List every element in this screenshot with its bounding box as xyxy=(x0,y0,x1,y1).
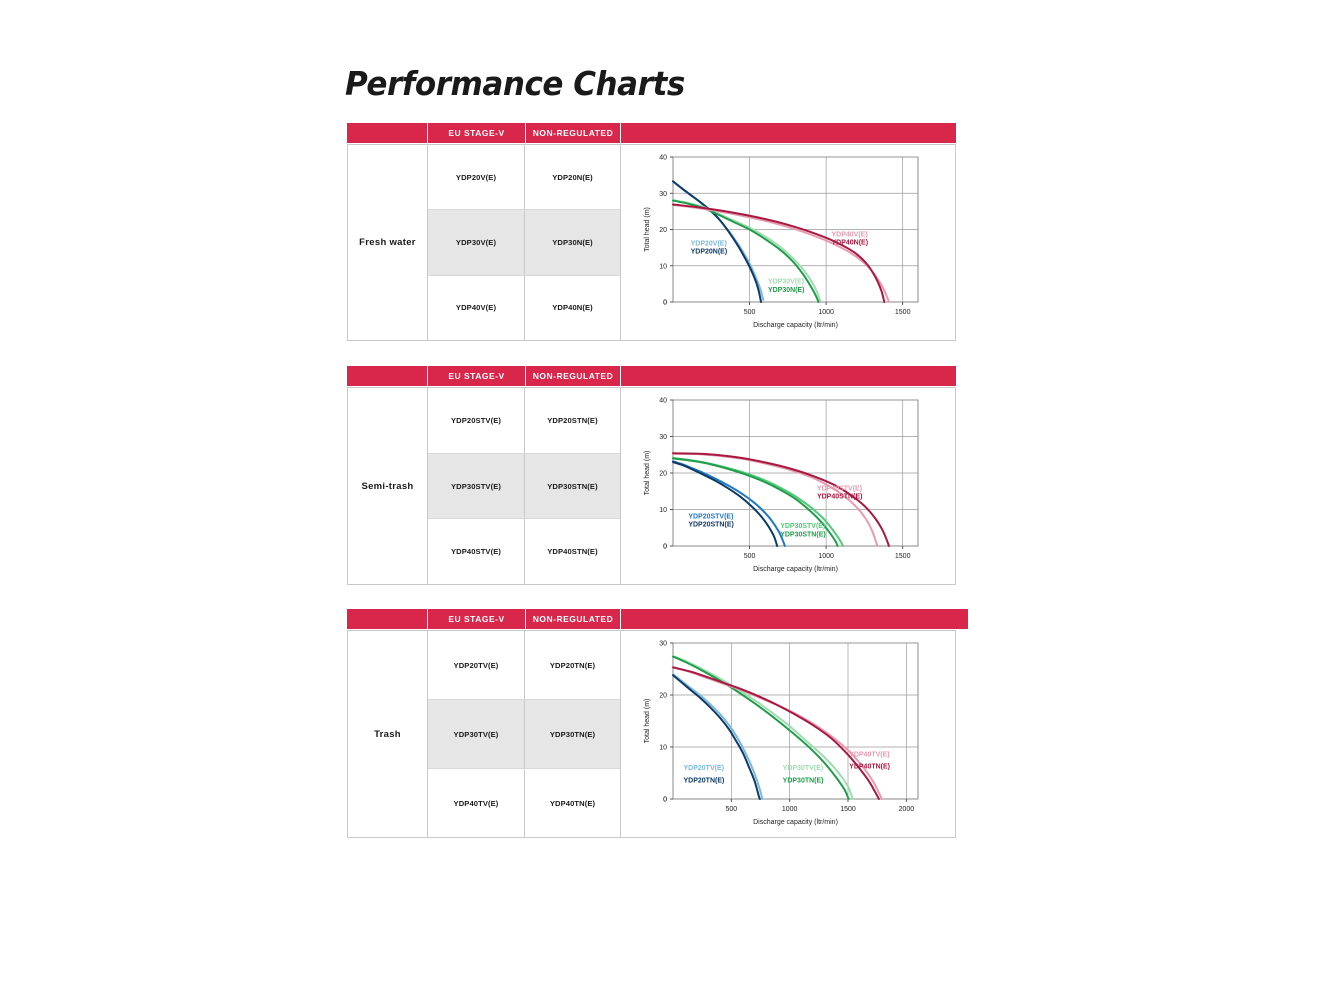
model-eu-cell: YDP30V(E) xyxy=(428,210,525,274)
table-row: YDP20STV(E) YDP20STN(E) xyxy=(428,388,620,453)
svg-text:2000: 2000 xyxy=(899,806,915,813)
svg-text:500: 500 xyxy=(744,553,756,560)
svg-text:YDP20TN(E): YDP20TN(E) xyxy=(684,777,725,784)
section-fresh-water: EU STAGE-V NON-REGULATED Fresh water YDP… xyxy=(347,123,956,341)
table-row: YDP30TV(E) YDP30TN(E) xyxy=(428,699,620,768)
svg-text:0: 0 xyxy=(663,797,667,804)
table-row: YDP30V(E) YDP30N(E) xyxy=(428,209,620,274)
header-cell-non-regulated: NON-REGULATED xyxy=(526,609,620,629)
svg-text:YDP40TV(E): YDP40TV(E) xyxy=(849,751,889,758)
model-nonreg-cell: YDP20N(E) xyxy=(525,145,620,209)
table-row: YDP20V(E) YDP20N(E) xyxy=(428,145,620,209)
section-body: Semi-trash YDP20STV(E) YDP20STN(E) YDP30… xyxy=(347,387,956,585)
section-semi-trash: EU STAGE-V NON-REGULATED Semi-trash YDP2… xyxy=(347,366,956,585)
header-cell-non-regulated: NON-REGULATED xyxy=(526,366,620,386)
svg-text:YDP20STV(E): YDP20STV(E) xyxy=(688,513,733,520)
category-cell-fresh-water: Fresh water xyxy=(348,145,428,340)
svg-text:30: 30 xyxy=(659,434,667,441)
svg-text:YDP40V(E): YDP40V(E) xyxy=(831,231,867,238)
header-cell-chart xyxy=(621,123,956,143)
table-row: YDP30STV(E) YDP30STN(E) xyxy=(428,453,620,519)
section-header-bar: EU STAGE-V NON-REGULATED xyxy=(347,609,968,629)
header-cell-category xyxy=(347,609,427,629)
section-header-bar: EU STAGE-V NON-REGULATED xyxy=(347,123,956,143)
performance-charts-page: Performance Charts EU STAGE-V NON-REGULA… xyxy=(0,0,1317,988)
section-header-bar: EU STAGE-V NON-REGULATED xyxy=(347,366,956,386)
svg-text:1000: 1000 xyxy=(782,806,798,813)
svg-text:YDP20V(E): YDP20V(E) xyxy=(691,240,727,247)
svg-text:500: 500 xyxy=(725,806,737,813)
model-nonreg-cell: YDP20TN(E) xyxy=(525,631,620,699)
model-eu-cell: YDP30TV(E) xyxy=(428,700,525,768)
svg-text:Discharge capacity (ltr/min): Discharge capacity (ltr/min) xyxy=(753,819,838,826)
svg-text:Total head (m): Total head (m) xyxy=(644,207,651,252)
category-label: Trash xyxy=(374,729,401,740)
svg-text:40: 40 xyxy=(659,155,667,162)
header-cell-chart xyxy=(621,609,968,629)
chart-cell-semi-trash: 010203040500100015000Discharge capacity … xyxy=(621,388,955,584)
svg-text:0: 0 xyxy=(663,544,667,551)
svg-text:YDP20TV(E): YDP20TV(E) xyxy=(684,765,724,772)
svg-text:20: 20 xyxy=(659,693,667,700)
model-nonreg-cell: YDP40STN(E) xyxy=(525,519,620,584)
model-eu-cell: YDP20STV(E) xyxy=(428,388,525,453)
svg-text:20: 20 xyxy=(659,471,667,478)
svg-text:YDP40STN(E): YDP40STN(E) xyxy=(817,494,863,501)
model-eu-cell: YDP40V(E) xyxy=(428,276,525,340)
svg-text:1500: 1500 xyxy=(895,553,911,560)
svg-text:Total head (m): Total head (m) xyxy=(644,451,651,496)
chart-cell-fresh-water: 010203040500100015000Discharge capacity … xyxy=(621,145,955,340)
model-eu-cell: YDP20V(E) xyxy=(428,145,525,209)
svg-text:1500: 1500 xyxy=(840,806,856,813)
svg-text:YDP20N(E): YDP20N(E) xyxy=(691,248,728,255)
model-eu-cell: YDP40STV(E) xyxy=(428,519,525,584)
svg-text:20: 20 xyxy=(659,227,667,234)
svg-text:1000: 1000 xyxy=(818,553,834,560)
svg-text:YDP40N(E): YDP40N(E) xyxy=(831,239,868,246)
category-cell-semi-trash: Semi-trash xyxy=(348,388,428,584)
category-cell-trash: Trash xyxy=(348,631,428,837)
svg-text:40: 40 xyxy=(659,398,667,405)
svg-text:YDP20STN(E): YDP20STN(E) xyxy=(688,522,734,529)
svg-text:YDP30TV(E): YDP30TV(E) xyxy=(783,765,823,772)
header-cell-category xyxy=(347,123,427,143)
svg-text:YDP40STV(E): YDP40STV(E) xyxy=(817,486,862,493)
model-nonreg-cell: YDP30N(E) xyxy=(525,210,620,274)
svg-text:30: 30 xyxy=(659,191,667,198)
header-cell-chart xyxy=(621,366,956,386)
performance-chart-fresh-water: 010203040500100015000Discharge capacity … xyxy=(621,145,955,340)
svg-text:10: 10 xyxy=(659,507,667,514)
model-nonreg-cell: YDP20STN(E) xyxy=(525,388,620,453)
chart-cell-trash: 01020305001000150020000Discharge capacit… xyxy=(621,631,955,837)
svg-text:1000: 1000 xyxy=(818,309,834,316)
header-cell-non-regulated: NON-REGULATED xyxy=(526,123,620,143)
model-eu-cell: YDP30STV(E) xyxy=(428,454,525,519)
svg-text:0: 0 xyxy=(663,300,667,307)
svg-text:YDP40TN(E): YDP40TN(E) xyxy=(849,763,890,770)
model-eu-cell: YDP40TV(E) xyxy=(428,769,525,837)
header-cell-category xyxy=(347,366,427,386)
svg-text:30: 30 xyxy=(659,641,667,648)
svg-text:YDP30N(E): YDP30N(E) xyxy=(768,287,805,294)
section-body: Trash YDP20TV(E) YDP20TN(E) YDP30TV(E) Y… xyxy=(347,630,956,838)
svg-text:YDP30V(E): YDP30V(E) xyxy=(768,279,804,286)
section-body: Fresh water YDP20V(E) YDP20N(E) YDP30V(E… xyxy=(347,144,956,341)
svg-text:YDP30STN(E): YDP30STN(E) xyxy=(780,532,826,539)
header-cell-eu-stage-v: EU STAGE-V xyxy=(428,123,525,143)
table-row: YDP20TV(E) YDP20TN(E) xyxy=(428,631,620,699)
category-label: Semi-trash xyxy=(361,481,413,492)
page-title: Performance Charts xyxy=(345,64,685,103)
table-row: YDP40V(E) YDP40N(E) xyxy=(428,275,620,340)
model-nonreg-cell: YDP30STN(E) xyxy=(525,454,620,519)
svg-text:500: 500 xyxy=(744,309,756,316)
svg-text:10: 10 xyxy=(659,745,667,752)
model-grid: YDP20V(E) YDP20N(E) YDP30V(E) YDP30N(E) … xyxy=(428,145,621,340)
model-grid: YDP20TV(E) YDP20TN(E) YDP30TV(E) YDP30TN… xyxy=(428,631,621,837)
header-cell-eu-stage-v: EU STAGE-V xyxy=(428,609,525,629)
model-nonreg-cell: YDP40TN(E) xyxy=(525,769,620,837)
performance-chart-trash: 01020305001000150020000Discharge capacit… xyxy=(621,631,955,837)
section-trash: EU STAGE-V NON-REGULATED Trash YDP20TV(E… xyxy=(347,609,968,838)
table-row: YDP40STV(E) YDP40STN(E) xyxy=(428,518,620,584)
svg-text:YDP30TN(E): YDP30TN(E) xyxy=(783,777,824,784)
model-nonreg-cell: YDP30TN(E) xyxy=(525,700,620,768)
table-row: YDP40TV(E) YDP40TN(E) xyxy=(428,768,620,837)
svg-text:Discharge capacity (ltr/min): Discharge capacity (ltr/min) xyxy=(753,322,838,329)
svg-text:YDP30STV(E): YDP30STV(E) xyxy=(780,523,825,530)
model-nonreg-cell: YDP40N(E) xyxy=(525,276,620,340)
svg-text:1500: 1500 xyxy=(895,309,911,316)
performance-chart-semi-trash: 010203040500100015000Discharge capacity … xyxy=(621,388,955,584)
svg-text:Discharge capacity (ltr/min): Discharge capacity (ltr/min) xyxy=(753,566,838,573)
category-label: Fresh water xyxy=(359,237,416,248)
model-eu-cell: YDP20TV(E) xyxy=(428,631,525,699)
model-grid: YDP20STV(E) YDP20STN(E) YDP30STV(E) YDP3… xyxy=(428,388,621,584)
svg-text:Total head (m): Total head (m) xyxy=(644,699,651,744)
header-cell-eu-stage-v: EU STAGE-V xyxy=(428,366,525,386)
svg-text:10: 10 xyxy=(659,263,667,270)
